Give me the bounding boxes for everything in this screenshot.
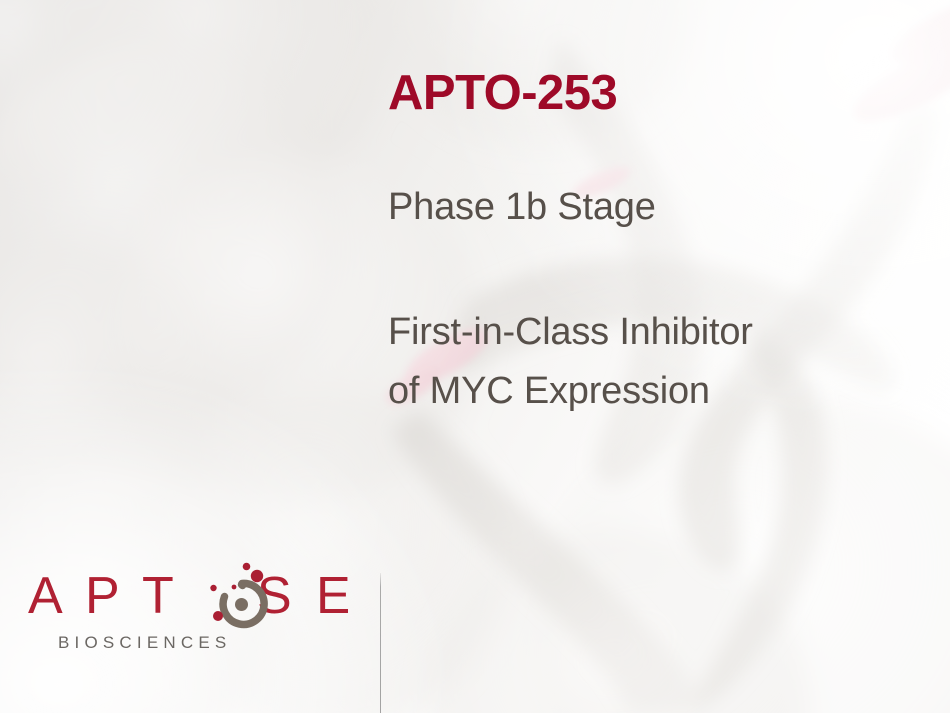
body-block: First-in-Class Inhibitor of MYC Expressi… xyxy=(388,303,948,421)
presentation-slide: APTO-253 Phase 1b Stage First-in-Class I… xyxy=(0,0,950,713)
aptose-logo: A P T S E BIOSC xyxy=(28,560,348,660)
title-block: APTO-253 xyxy=(388,68,933,119)
logo-wordmark: A P T S E xyxy=(28,567,348,625)
logo-divider xyxy=(380,573,381,713)
body-line-1: First-in-Class Inhibitor xyxy=(388,303,948,362)
slide-content: APTO-253 Phase 1b Stage First-in-Class I… xyxy=(0,0,950,713)
logo-letter-p: P xyxy=(85,567,120,625)
logo-tagline: BIOSCIENCES xyxy=(58,633,231,652)
body-line-2: of MYC Expression xyxy=(388,362,948,421)
logo-letter-a: A xyxy=(28,567,63,625)
logo-letter-t: T xyxy=(142,567,174,625)
subtitle-text: Phase 1b Stage xyxy=(388,185,936,229)
page-title: APTO-253 xyxy=(388,68,933,119)
subtitle-block: Phase 1b Stage xyxy=(388,185,936,229)
svg-text:BIOSCIENCES: BIOSCIENCES xyxy=(58,633,231,652)
logo-letter-e: E xyxy=(316,567,348,625)
